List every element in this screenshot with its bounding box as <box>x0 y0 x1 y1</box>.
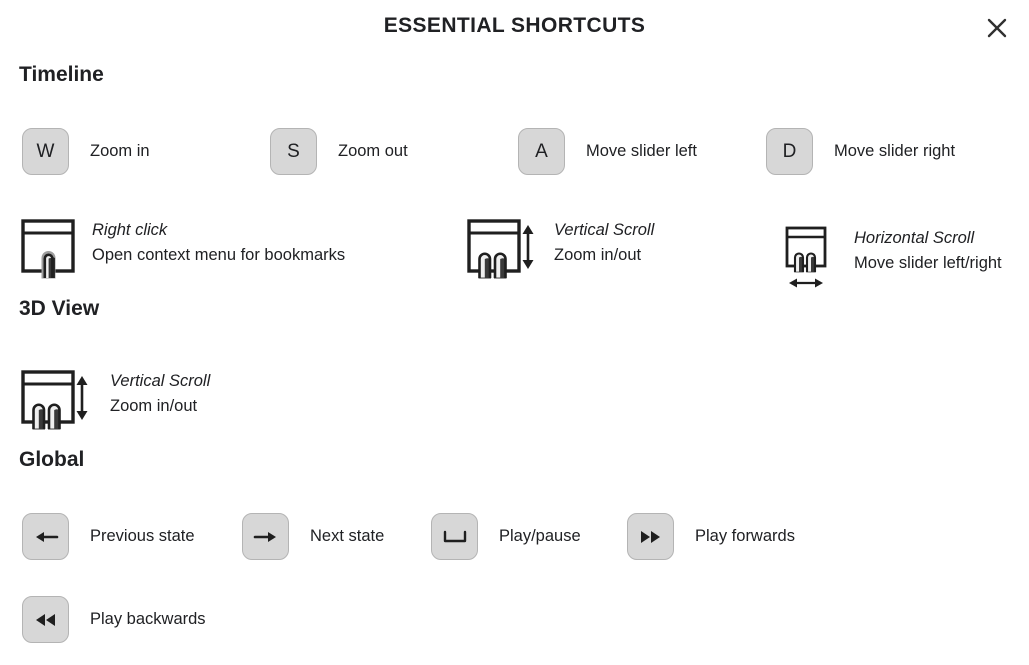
shortcut-item-vertical-scroll-timeline: Vertical Scroll Zoom in/out <box>466 218 780 285</box>
section-heading-timeline: Timeline <box>0 63 104 87</box>
shortcut-label-next-state: Next state <box>310 527 384 546</box>
shortcut-item-vertical-scroll-3d: Vertical Scroll Zoom in/out <box>20 369 210 436</box>
shortcut-action-vertical-scroll-timeline: Vertical Scroll <box>554 218 654 243</box>
rewind-icon[interactable] <box>22 596 69 643</box>
global-shortcuts-row-2: Play backwards <box>22 596 206 643</box>
shortcut-item-previous-state: Previous state <box>22 513 242 560</box>
shortcut-label-play-pause: Play/pause <box>499 527 581 546</box>
key-a[interactable]: A <box>518 128 565 175</box>
shortcut-description-vertical-scroll-3d: Zoom in/out <box>110 394 210 419</box>
timeline-key-shortcuts-row: W Zoom in S Zoom out A Move slider left … <box>22 128 955 175</box>
close-icon[interactable] <box>981 12 1013 44</box>
fast-forward-icon[interactable] <box>627 513 674 560</box>
shortcut-label-move-slider-right: Move slider right <box>834 142 955 161</box>
key-d[interactable]: D <box>766 128 813 175</box>
shortcut-description-vertical-scroll-timeline: Zoom in/out <box>554 243 654 268</box>
shortcut-item-horizontal-scroll: Horizontal Scroll Move slider left/right <box>780 218 1002 297</box>
shortcut-text-vertical-scroll-timeline: Vertical Scroll Zoom in/out <box>554 218 654 268</box>
shortcut-description-horizontal-scroll: Move slider left/right <box>854 251 1002 276</box>
shortcut-item-play-pause: Play/pause <box>431 513 627 560</box>
spacebar-icon[interactable] <box>431 513 478 560</box>
dialog-title: ESSENTIAL SHORTCUTS <box>0 14 1029 38</box>
shortcut-text-right-click: Right click Open context menu for bookma… <box>92 218 345 268</box>
key-s[interactable]: S <box>270 128 317 175</box>
shortcut-text-horizontal-scroll: Horizontal Scroll Move slider left/right <box>854 226 1002 276</box>
shortcut-action-right-click: Right click <box>92 218 345 243</box>
shortcut-label-play-forwards: Play forwards <box>695 527 795 546</box>
timeline-mouse-shortcuts-row: Right click Open context menu for bookma… <box>20 218 1002 297</box>
shortcut-label-play-backwards: Play backwards <box>90 610 206 629</box>
section-heading-3d-view: 3D View <box>0 297 99 321</box>
mouse-vertical-scroll-icon <box>20 369 92 436</box>
global-shortcuts-row-1: Previous state Next state Play/pause <box>22 513 795 560</box>
shortcut-text-vertical-scroll-3d: Vertical Scroll Zoom in/out <box>110 369 210 419</box>
shortcut-action-vertical-scroll-3d: Vertical Scroll <box>110 369 210 394</box>
mouse-right-click-icon <box>20 218 76 285</box>
shortcut-item-next-state: Next state <box>242 513 431 560</box>
shortcut-label-zoom-out: Zoom out <box>338 142 408 161</box>
shortcut-item-zoom-in: W Zoom in <box>22 128 270 175</box>
mouse-horizontal-scroll-icon <box>780 226 832 297</box>
shortcut-item-zoom-out: S Zoom out <box>270 128 518 175</box>
shortcut-action-horizontal-scroll: Horizontal Scroll <box>854 226 1002 251</box>
shortcut-item-play-backwards: Play backwards <box>22 596 206 643</box>
shortcut-description-right-click: Open context menu for bookmarks <box>92 243 345 268</box>
shortcut-label-move-slider-left: Move slider left <box>586 142 697 161</box>
key-w[interactable]: W <box>22 128 69 175</box>
shortcut-item-move-slider-right: D Move slider right <box>766 128 955 175</box>
shortcut-label-zoom-in: Zoom in <box>90 142 150 161</box>
mouse-vertical-scroll-icon <box>466 218 538 285</box>
essential-shortcuts-dialog: ESSENTIAL SHORTCUTS Timeline W Zoom in S… <box>0 0 1029 665</box>
3d-view-mouse-shortcuts-row: Vertical Scroll Zoom in/out <box>20 369 210 436</box>
shortcut-item-right-click: Right click Open context menu for bookma… <box>20 218 466 285</box>
arrow-right-icon[interactable] <box>242 513 289 560</box>
section-heading-global: Global <box>0 448 84 472</box>
dialog-header: ESSENTIAL SHORTCUTS <box>0 0 1029 56</box>
shortcut-item-move-slider-left: A Move slider left <box>518 128 766 175</box>
arrow-left-icon[interactable] <box>22 513 69 560</box>
shortcut-item-play-forwards: Play forwards <box>627 513 795 560</box>
shortcut-label-previous-state: Previous state <box>90 527 195 546</box>
